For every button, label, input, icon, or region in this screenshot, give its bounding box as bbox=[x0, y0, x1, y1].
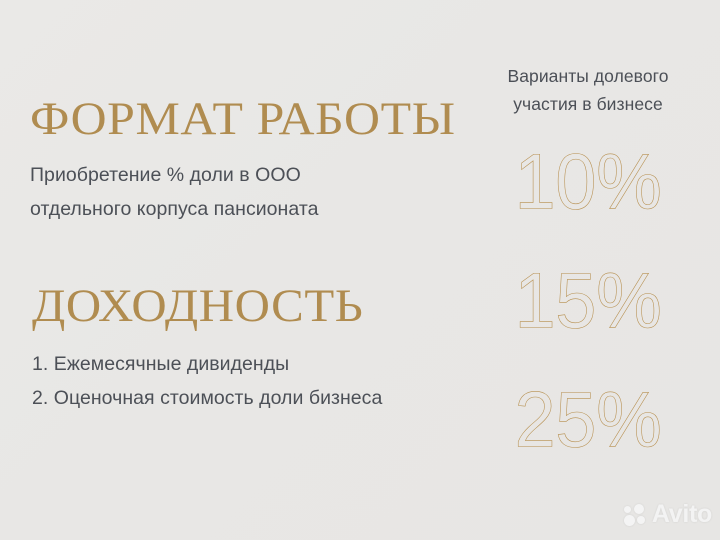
format-description-line-2: отдельного корпуса пансионата bbox=[30, 193, 460, 227]
avito-dots-icon bbox=[624, 504, 648, 526]
income-list-item-2: 2. Оценочная стоимость доли бизнеса bbox=[32, 382, 472, 416]
avito-wordmark: Avito bbox=[652, 502, 712, 527]
percentage-value-1: 10% bbox=[468, 142, 708, 220]
percentage-value-3: 25% bbox=[468, 380, 708, 458]
format-description: Приобретение % доли в ООО отдельного кор… bbox=[30, 159, 460, 226]
income-heading: ДОХОДНОСТЬ bbox=[32, 283, 490, 330]
income-list: 1. Ежемесячные дивиденды 2. Оценочная ст… bbox=[32, 348, 472, 416]
percentage-list: 10% 15% 25% bbox=[468, 145, 708, 457]
format-description-line-1: Приобретение % доли в ООО bbox=[30, 159, 460, 193]
slide-canvas: ФОРМАТ РАБОТЫ Приобретение % доли в ООО … bbox=[0, 0, 720, 540]
share-options-title: Варианты долевого участия в бизнесе bbox=[468, 62, 708, 119]
format-section: ФОРМАТ РАБОТЫ Приобретение % доли в ООО … bbox=[30, 96, 460, 226]
income-list-item-1: 1. Ежемесячные дивиденды bbox=[32, 348, 472, 382]
format-heading: ФОРМАТ РАБОТЫ bbox=[30, 96, 486, 143]
avito-watermark: Avito bbox=[624, 502, 712, 527]
share-options-section: Варианты долевого участия в бизнесе 10% … bbox=[468, 62, 708, 457]
share-options-title-line-2: участия в бизнесе bbox=[474, 90, 702, 118]
share-options-title-line-1: Варианты долевого bbox=[474, 62, 702, 90]
percentage-value-2: 15% bbox=[468, 261, 708, 339]
income-section: ДОХОДНОСТЬ 1. Ежемесячные дивиденды 2. О… bbox=[32, 283, 472, 416]
